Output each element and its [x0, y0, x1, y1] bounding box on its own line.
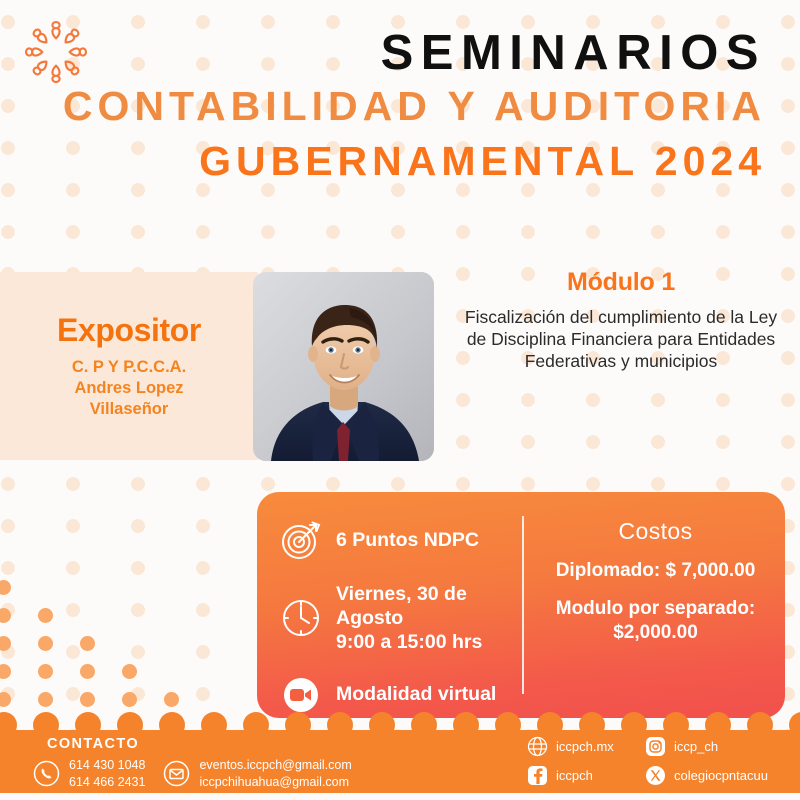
contact-email[interactable]: eventos.iccpch@gmail.com iccpchihuahua@g… [163, 757, 351, 791]
heading-seminarios: SEMINARIOS [6, 28, 766, 79]
social-links: iccpch.mx iccp_ch [527, 736, 797, 794]
poster-canvas: SEMINARIOS CONTABILIDAD Y AUDITORIA GUBE… [0, 0, 800, 800]
speaker-name-line2: Villaseñor [72, 399, 186, 420]
phone-icon [33, 760, 60, 787]
social-row-2: iccpch colegiocpntacuu [527, 765, 797, 786]
detail-points-text: 6 Puntos NDPC [336, 528, 479, 552]
contact-blocks: 614 430 1048 614 466 2431 eventos.iccpch… [33, 757, 352, 791]
speaker-block: Expositor C. P Y P.C.C.A. Andres Lopez V… [0, 272, 258, 460]
speaker-name-line1: Andres Lopez [72, 378, 186, 399]
module-title: Módulo 1 [456, 268, 786, 297]
social-x-handle: colegiocpntacuu [674, 768, 768, 783]
contact-phone-text: 614 430 1048 614 466 2431 [69, 757, 145, 791]
speaker-portrait-photo [253, 272, 434, 461]
detail-date-text: Viernes, 30 de Agosto 9:00 a 15:00 hrs [336, 582, 482, 655]
contact-label: CONTACTO [47, 736, 139, 752]
social-x-twitter[interactable]: colegiocpntacuu [645, 765, 768, 786]
module-block: Módulo 1 Fiscalización del cumplimiento … [456, 268, 786, 373]
heading-gubernamental: GUBERNAMENTAL 2024 [6, 134, 766, 189]
social-facebook[interactable]: iccpch [527, 765, 645, 786]
module-description: Fiscalización del cumplimiento de la Ley… [456, 306, 786, 373]
heading-contabilidad: CONTABILIDAD Y AUDITORIA [6, 79, 766, 134]
bottom-white-strip [0, 793, 800, 800]
email-line1: eventos.iccpch@gmail.com [199, 758, 351, 772]
social-facebook-handle: iccpch [556, 768, 593, 783]
detail-date-line3: 9:00 a 15:00 hrs [336, 631, 482, 653]
poster-headings: SEMINARIOS CONTABILIDAD Y AUDITORIA GUBE… [6, 28, 766, 190]
speaker-details: C. P Y P.C.C.A. Andres Lopez Villaseñor [72, 357, 186, 420]
detail-modality-text: Modalidad virtual [336, 682, 496, 706]
speaker-credentials: C. P Y P.C.C.A. [72, 357, 186, 378]
detail-row-date: Viernes, 30 de Agosto 9:00 a 15:00 hrs [279, 582, 522, 655]
social-row-1: iccpch.mx iccp_ch [527, 736, 797, 757]
contact-phone[interactable]: 614 430 1048 614 466 2431 [33, 757, 145, 791]
speaker-label: Expositor [57, 312, 201, 349]
social-instagram-handle: iccp_ch [674, 739, 718, 754]
target-icon [279, 518, 323, 562]
globe-icon [527, 736, 548, 757]
social-website[interactable]: iccpch.mx [527, 736, 645, 757]
costs-item: Diplomado: $ 7,000.00 [556, 559, 756, 584]
detail-date-line2: Agosto [336, 607, 403, 629]
card-vertical-divider [522, 516, 524, 694]
costs-title: Costos [619, 518, 693, 545]
phone-line1: 614 430 1048 [69, 758, 145, 772]
video-camera-icon [279, 673, 323, 717]
detail-date-line1: Viernes, 30 de [336, 583, 467, 605]
costs-block: Costos Diplomado: $ 7,000.00 Modulo por … [522, 492, 785, 718]
email-line2: iccpchihuahua@gmail.com [199, 775, 349, 789]
detail-row-modality: Modalidad virtual [279, 673, 522, 717]
instagram-icon [645, 736, 666, 757]
phone-line2: 614 466 2431 [69, 775, 145, 789]
clock-icon [279, 596, 323, 640]
facebook-icon [527, 765, 548, 786]
envelope-icon [163, 760, 190, 787]
social-instagram[interactable]: iccp_ch [645, 736, 718, 757]
social-website-handle: iccpch.mx [556, 739, 614, 754]
costs-item: Modulo por separado: $2,000.00 [540, 597, 771, 646]
event-details-left: 6 Puntos NDPC Viernes, 30 de Agosto 9:00… [257, 492, 522, 718]
x-twitter-icon [645, 765, 666, 786]
event-details-card: 6 Puntos NDPC Viernes, 30 de Agosto 9:00… [257, 492, 785, 718]
contact-email-text: eventos.iccpch@gmail.com iccpchihuahua@g… [199, 757, 351, 791]
detail-row-points: 6 Puntos NDPC [279, 518, 522, 562]
